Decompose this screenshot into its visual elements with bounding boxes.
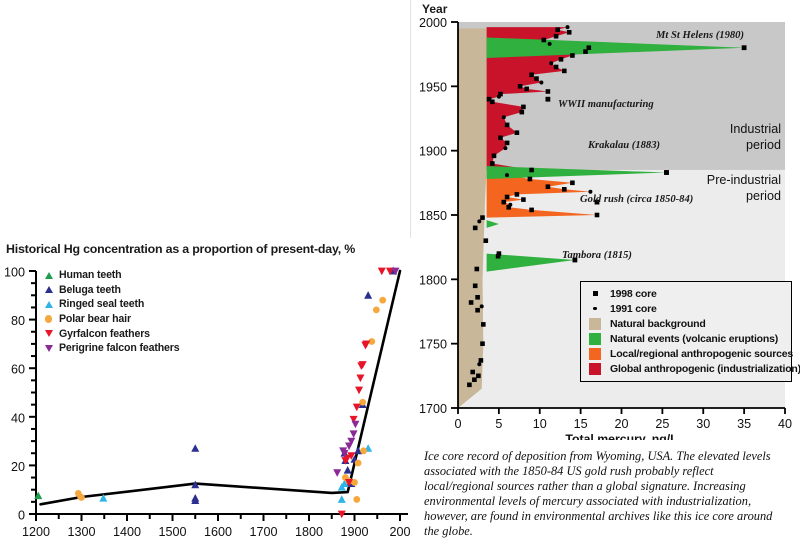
color-swatch-icon <box>589 318 601 330</box>
core-data-point <box>505 123 510 128</box>
core-data-point <box>490 161 495 166</box>
data-point <box>355 387 363 395</box>
core-data-point <box>480 215 485 220</box>
core-data-point <box>477 362 481 366</box>
triangle-down-icon <box>44 345 53 352</box>
core-data-point <box>546 184 551 189</box>
data-point <box>359 399 366 406</box>
core-data-point <box>472 377 477 382</box>
core-data-point <box>587 45 592 50</box>
core-data-point <box>562 69 567 74</box>
square-large-icon <box>589 291 601 296</box>
mercury-axis-title: Total mercury, ng/L <box>565 432 678 440</box>
core-data-point <box>570 181 575 186</box>
mercury-tick-5: 5 <box>495 417 502 431</box>
year-tick-1950: 1950 <box>419 80 447 94</box>
core-data-point <box>559 57 564 62</box>
ice-core-legend-item-1: 1991 core <box>589 301 785 316</box>
core-data-point <box>492 154 497 159</box>
core-data-point <box>566 25 570 29</box>
left-x-tick-1400: 1400 <box>113 525 141 539</box>
left-chart-legend: Human teethBeluga teethRinged seal teeth… <box>44 268 179 356</box>
core-data-point <box>529 73 534 78</box>
left-x-tick-1300: 1300 <box>67 525 95 539</box>
circle-icon <box>44 315 53 322</box>
period-label-line2: period <box>746 138 781 152</box>
core-data-point <box>498 136 503 141</box>
year-tick-1900: 1900 <box>419 145 447 159</box>
core-data-point <box>505 195 510 200</box>
year-tick-1750: 1750 <box>419 338 447 352</box>
year-tick-1700: 1700 <box>419 402 447 416</box>
annotation-3: Gold rush (circa 1850-84) <box>580 194 693 205</box>
core-data-point <box>503 146 507 150</box>
data-point <box>78 494 85 501</box>
triangle-up-icon <box>44 301 53 308</box>
ice-core-legend-label: Local/regional anthropogenic sources <box>610 348 793 360</box>
core-data-point <box>476 374 481 379</box>
core-data-point <box>529 168 534 173</box>
year-tick-1800: 1800 <box>419 273 447 287</box>
peak-data-point <box>546 97 551 102</box>
left-legend-label: Gyrfalcon feathers <box>59 328 150 340</box>
core-data-point <box>502 115 506 119</box>
core-data-point <box>554 65 559 70</box>
core-data-point <box>480 304 484 308</box>
left-legend-item-1: Beluga teeth <box>44 283 179 298</box>
peak-data-point <box>742 45 747 50</box>
core-data-point <box>555 27 560 32</box>
annotation-2: Krakalau (1883) <box>587 140 660 151</box>
core-data-point <box>549 61 553 65</box>
mercury-tick-10: 10 <box>533 417 547 431</box>
year-tick-2000: 2000 <box>419 16 447 30</box>
left-legend-label: Beluga teeth <box>59 284 121 296</box>
mercury-tick-35: 35 <box>737 417 751 431</box>
left-x-tick-1800: 1800 <box>295 525 323 539</box>
core-data-point <box>554 34 559 39</box>
left-legend-label: Human teeth <box>59 269 122 281</box>
core-data-point <box>477 219 481 223</box>
left-y-tick-80: 80 <box>11 314 25 328</box>
core-data-point <box>570 53 575 58</box>
left-x-tick-1600: 1600 <box>204 525 232 539</box>
core-data-point <box>534 76 539 81</box>
core-data-point <box>480 341 485 346</box>
ice-core-legend-label: Global anthropogenic (industrialization) <box>610 363 800 375</box>
color-swatch-icon <box>589 333 601 345</box>
year-tick-1850: 1850 <box>419 209 447 223</box>
ice-core-legend-item-4: Local/regional anthropogenic sources <box>589 346 785 361</box>
core-data-point <box>529 208 534 213</box>
ice-core-legend: 1998 core1991 coreNatural backgroundNatu… <box>580 281 792 382</box>
data-point <box>379 297 386 304</box>
core-data-point <box>475 267 480 272</box>
core-data-point <box>484 238 489 243</box>
left-x-tick-1500: 1500 <box>158 525 186 539</box>
color-swatch-icon <box>589 348 601 360</box>
ice-core-legend-item-0: 1998 core <box>589 286 785 301</box>
core-data-point <box>518 84 523 89</box>
ice-core-legend-label: 1998 core <box>610 288 657 300</box>
annotation-1: WWII manufacturing <box>558 99 654 110</box>
core-data-point <box>498 92 503 97</box>
core-data-point <box>595 213 600 218</box>
annotation-0: Mt St Helens (1980) <box>655 30 744 41</box>
data-point <box>360 447 367 454</box>
mercury-tick-0: 0 <box>454 417 461 431</box>
core-data-point <box>524 87 529 92</box>
triangle-down-icon <box>44 330 53 337</box>
core-data-point <box>469 300 474 305</box>
core-data-point <box>548 42 552 46</box>
left-legend-label: Polar bear hair <box>59 313 131 325</box>
left-legend-item-3: Polar bear hair <box>44 312 179 327</box>
core-data-point <box>479 358 484 363</box>
core-data-point <box>502 200 507 205</box>
ice-core-legend-label: Natural background <box>610 318 706 330</box>
hg-proportion-chart: Historical Hg concentration as a proport… <box>0 238 412 560</box>
triangle-up-icon <box>44 286 53 293</box>
data-point <box>338 495 346 503</box>
left-legend-item-0: Human teeth <box>44 268 179 283</box>
mercury-tick-25: 25 <box>655 417 669 431</box>
left-legend-item-5: Perigrine falcon feathers <box>44 341 179 356</box>
left-y-tick-60: 60 <box>11 363 25 377</box>
peak-data-point <box>664 170 669 175</box>
core-data-point <box>515 130 520 135</box>
core-data-point <box>473 284 478 289</box>
left-y-tick-40: 40 <box>11 411 25 425</box>
ice-core-legend-label: 1991 core <box>610 303 657 315</box>
core-data-point <box>546 89 551 94</box>
period-label-line1: Industrial <box>730 122 781 136</box>
left-legend-item-2: Ringed seal teeth <box>44 297 179 312</box>
annotation-4: Tambora (1815) <box>562 250 632 261</box>
core-data-point <box>520 110 525 115</box>
data-point <box>344 466 352 474</box>
ice-core-legend-item-3: Natural events (volcanic eruptions) <box>589 331 785 346</box>
left-legend-label: Ringed seal teeth <box>59 298 144 310</box>
left-x-tick-1900: 1900 <box>340 525 368 539</box>
dot-small-icon <box>589 307 601 310</box>
core-data-point <box>567 30 572 35</box>
left-y-tick-20: 20 <box>11 460 25 474</box>
ice-core-legend-item-5: Global anthropogenic (industrialization) <box>589 361 785 376</box>
core-data-point <box>473 226 478 231</box>
blank-panel <box>0 0 411 239</box>
left-legend-label: Perigrine falcon feathers <box>59 342 179 354</box>
core-data-point <box>467 383 472 388</box>
data-point <box>355 460 362 467</box>
data-point <box>364 291 372 299</box>
period-label-line1: Pre-industrial <box>707 173 781 187</box>
data-point <box>191 444 199 452</box>
core-data-point <box>470 370 475 375</box>
ice-core-legend-item-2: Natural background <box>589 316 785 331</box>
data-point <box>378 268 386 276</box>
core-data-point <box>505 173 509 177</box>
left-x-tick-1700: 1700 <box>249 525 277 539</box>
color-swatch-icon <box>589 363 601 375</box>
core-data-point <box>497 251 502 256</box>
data-point <box>356 375 364 383</box>
core-data-point <box>539 81 543 85</box>
mercury-tick-40: 40 <box>778 417 792 431</box>
left-y-tick-0: 0 <box>18 509 25 523</box>
ice-core-legend-label: Natural events (volcanic eruptions) <box>610 333 778 345</box>
core-data-point <box>542 38 547 43</box>
data-point <box>333 469 341 477</box>
core-data-point <box>475 295 480 300</box>
core-data-point <box>508 203 512 207</box>
left-y-tick-100: 100 <box>4 266 25 280</box>
left-x-tick-200: 200 <box>389 525 410 539</box>
data-point <box>351 421 359 429</box>
ice-core-chart: Year 17001750180018501900195020000510152… <box>412 0 800 440</box>
triangle-up-icon <box>44 272 53 279</box>
core-data-point <box>528 177 533 182</box>
core-data-point <box>475 308 480 313</box>
core-data-point <box>505 141 510 146</box>
mercury-tick-30: 30 <box>696 417 710 431</box>
core-data-point <box>515 192 520 197</box>
mercury-tick-20: 20 <box>614 417 628 431</box>
figure-caption: Ice core record of deposition from Wyomi… <box>424 449 786 539</box>
mercury-tick-15: 15 <box>574 417 588 431</box>
data-point <box>350 430 358 438</box>
core-data-point <box>521 105 526 110</box>
period-label-line2: period <box>746 189 781 203</box>
core-data-point <box>562 187 567 192</box>
data-point <box>373 306 380 313</box>
left-x-tick-1200: 1200 <box>22 525 50 539</box>
left-legend-item-4: Gyrfalcon feathers <box>44 326 179 341</box>
data-point <box>353 496 360 503</box>
core-data-point <box>487 97 492 102</box>
core-data-point <box>521 197 526 202</box>
core-data-point <box>481 322 486 327</box>
